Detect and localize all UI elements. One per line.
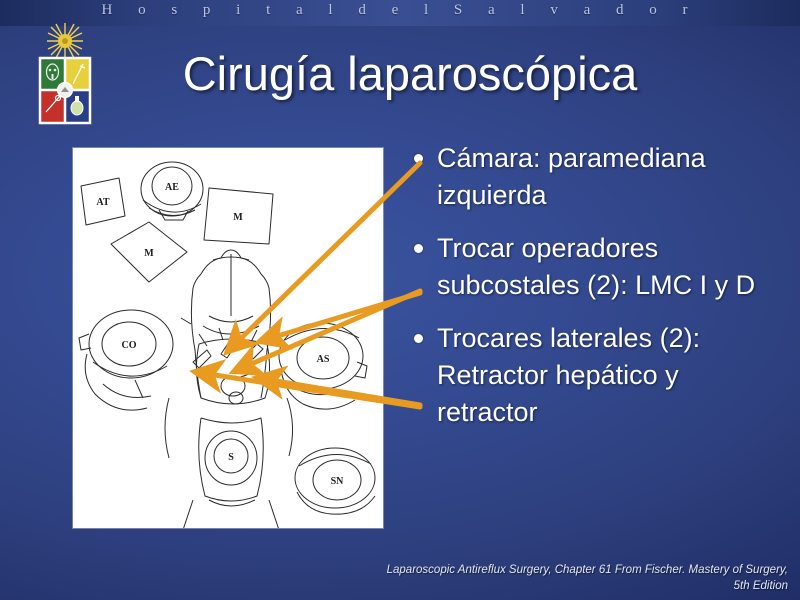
page-title: Cirugía laparoscópica [120,46,700,101]
figure-label-m-left: M [144,248,154,259]
bullet-text: Cámara: paramediana izquierda [437,140,782,214]
bullet-dot-icon [414,244,423,253]
list-item: Cámara: paramediana izquierda [408,140,782,214]
bullet-text: Trocares laterales (2): Retractor hepáti… [437,320,782,431]
source-citation: Laparoscopic Antireflux Surgery, Chapter… [380,562,788,594]
bullet-text: Trocar operadores subcostales (2): LMC I… [437,230,782,304]
figure-label-co: CO [122,340,137,351]
figure-label-sn: SN [331,476,345,487]
figure-label-at: AT [96,197,109,208]
citation-line-1: Laparoscopic Antireflux Surgery, Chapter… [387,564,743,576]
list-item: Trocares laterales (2): Retractor hepáti… [408,320,782,431]
bullet-list: Cámara: paramediana izquierda Trocar ope… [408,140,782,447]
bullet-dot-icon [414,334,423,343]
citation-line-2: Surgery, 5th Edition [734,564,788,592]
hospital-name: H o s p i t a l d e l S a l v a d o r [0,2,800,24]
list-item: Trocar operadores subcostales (2): LMC I… [408,230,782,304]
universidad-de-chile-logo-icon [34,22,96,126]
figure-label-m-right: M [233,212,243,223]
bullet-dot-icon [414,154,423,163]
slide-canvas: H o s p i t a l d e l S a l v a d o r [0,0,800,600]
figure-label-s: S [228,452,234,463]
figure-operating-room-setup: AT AE M M CO AS S SN [73,148,383,528]
figure-label-ae: AE [165,182,179,193]
figure-label-as: AS [317,354,330,365]
